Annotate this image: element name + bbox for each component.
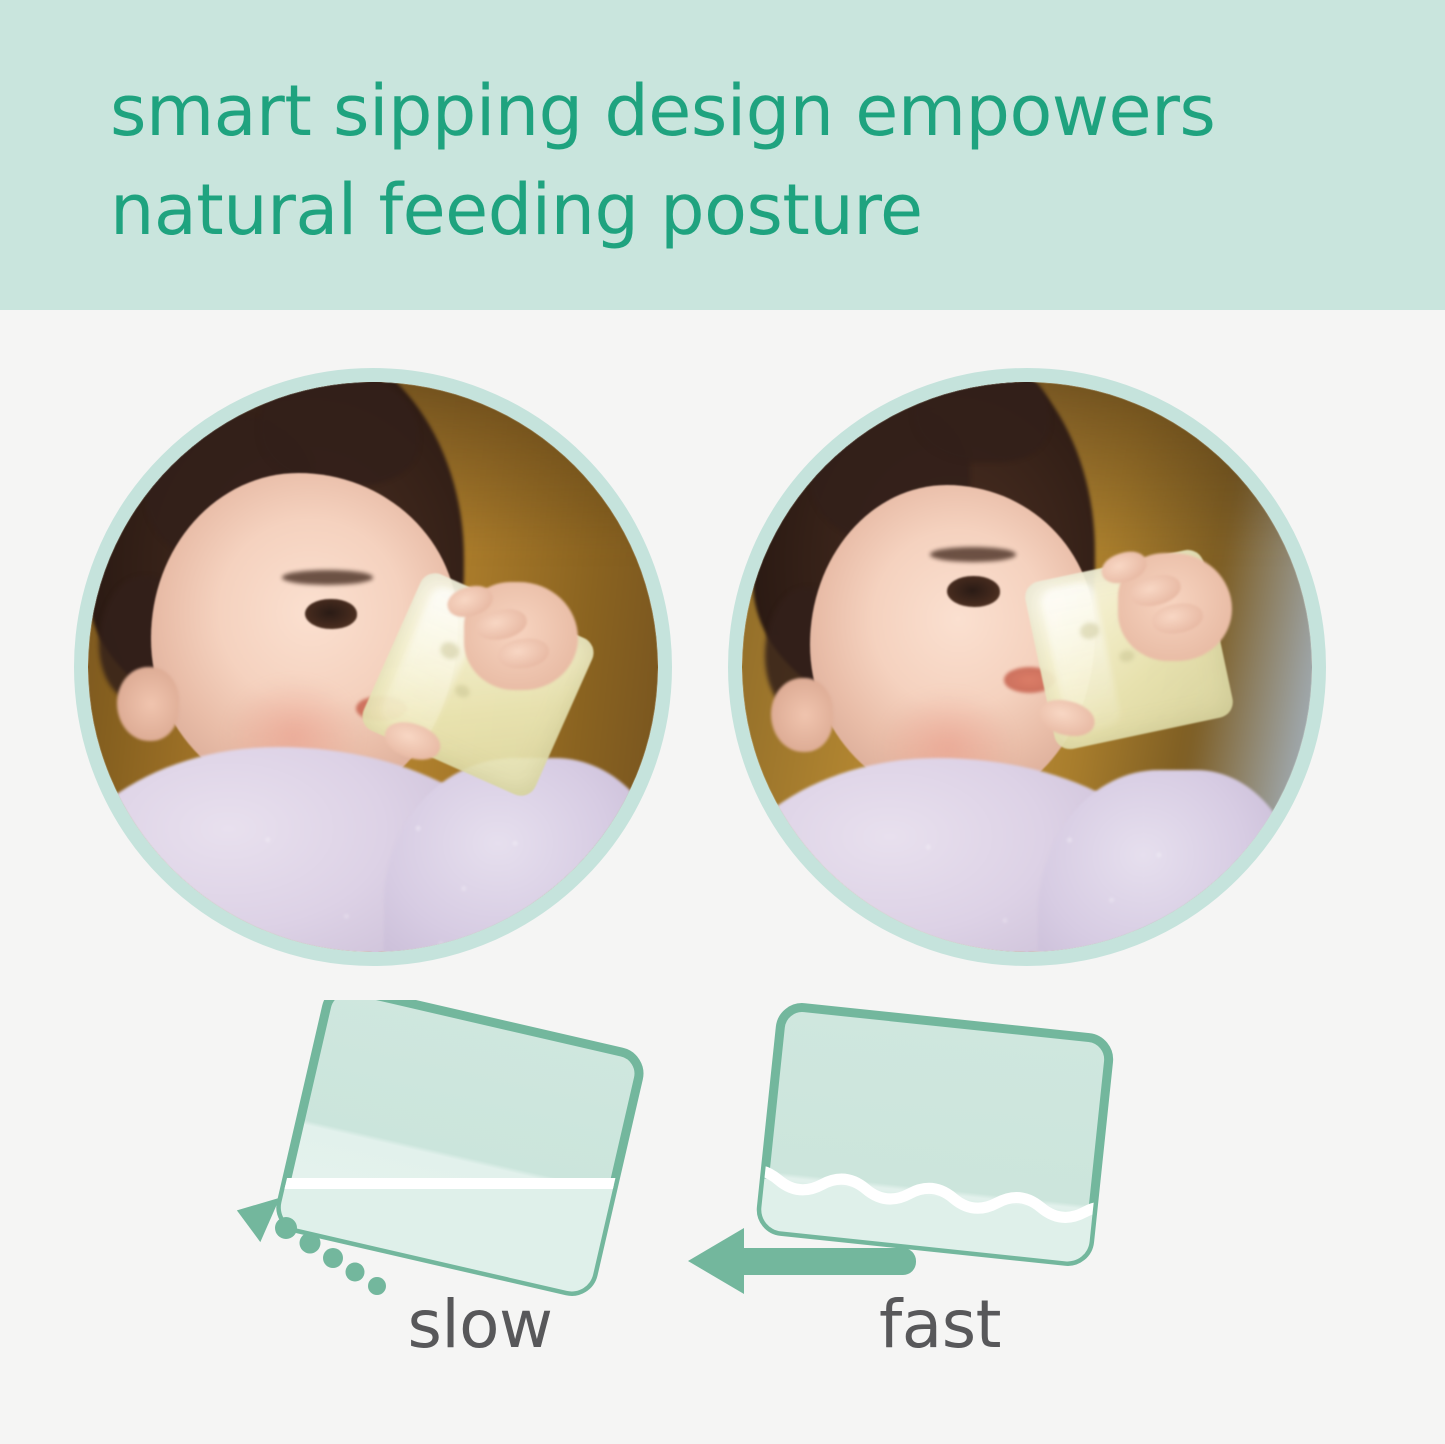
header-band: smart sipping design empowers natural fe… <box>0 0 1445 310</box>
photo-row <box>0 310 1445 1000</box>
diagram-panel-fast: fast <box>680 1000 1200 1444</box>
fast-bottle-illustration <box>680 1000 1200 1300</box>
photo-circle-left <box>74 368 672 966</box>
diagram-row: slow <box>0 1000 1445 1444</box>
baby-drinking-left-image <box>88 382 658 952</box>
photo-circle-right <box>728 368 1326 966</box>
page-title: smart sipping design empowers natural fe… <box>110 62 1370 261</box>
caption-fast: fast <box>680 1286 1200 1363</box>
diagram-panel-slow: slow <box>220 1000 740 1444</box>
slow-bottle-illustration <box>220 1000 740 1300</box>
caption-slow: slow <box>220 1286 740 1363</box>
baby-drinking-right-image <box>742 382 1312 952</box>
